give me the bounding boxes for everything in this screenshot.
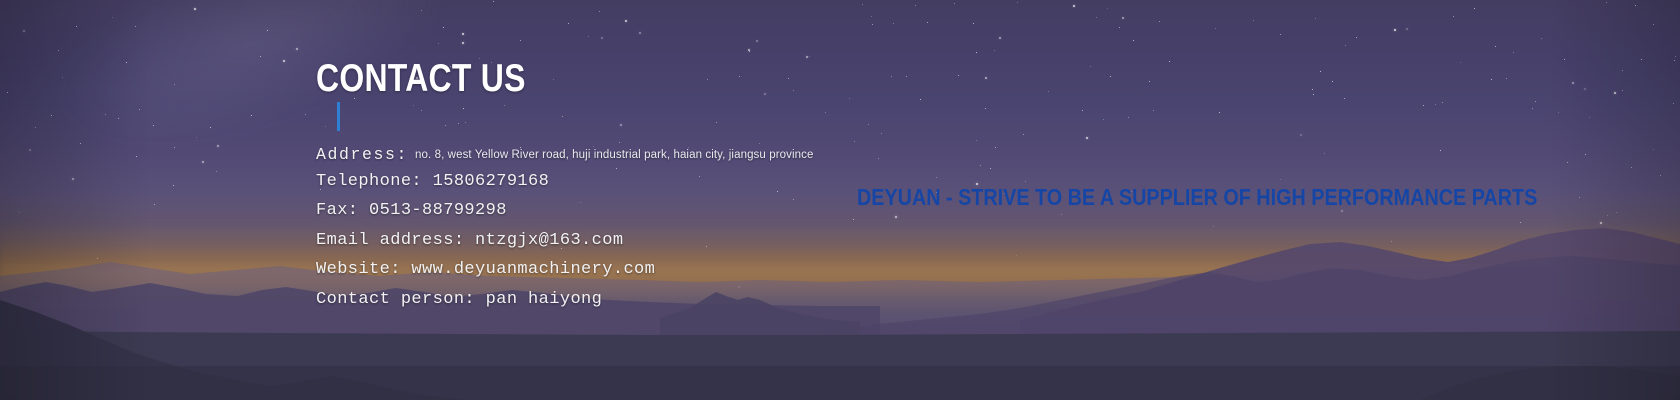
- address-label: Address:: [316, 145, 408, 164]
- contact-banner: CONTACT US Address:no. 8, west Yellow Ri…: [0, 0, 1680, 400]
- contact-address-row: Address:no. 8, west Yellow River road, h…: [316, 143, 1076, 167]
- contact-person: Contact person: pan haiyong: [316, 285, 1076, 314]
- page-title: CONTACT US: [316, 58, 526, 100]
- company-slogan: DEYUAN - STRIVE TO BE A SUPPLIER OF HIGH…: [857, 184, 1537, 210]
- title-accent-bar: [337, 102, 340, 131]
- contact-website[interactable]: Website: www.deyuanmachinery.com: [316, 255, 1076, 284]
- address-value: no. 8, west Yellow River road, huji indu…: [415, 149, 813, 161]
- contact-details-list: Address:no. 8, west Yellow River road, h…: [316, 143, 1076, 314]
- contact-email[interactable]: Email address: ntzgjx@163.com: [316, 226, 1076, 255]
- banner-content: CONTACT US Address:no. 8, west Yellow Ri…: [0, 0, 1680, 400]
